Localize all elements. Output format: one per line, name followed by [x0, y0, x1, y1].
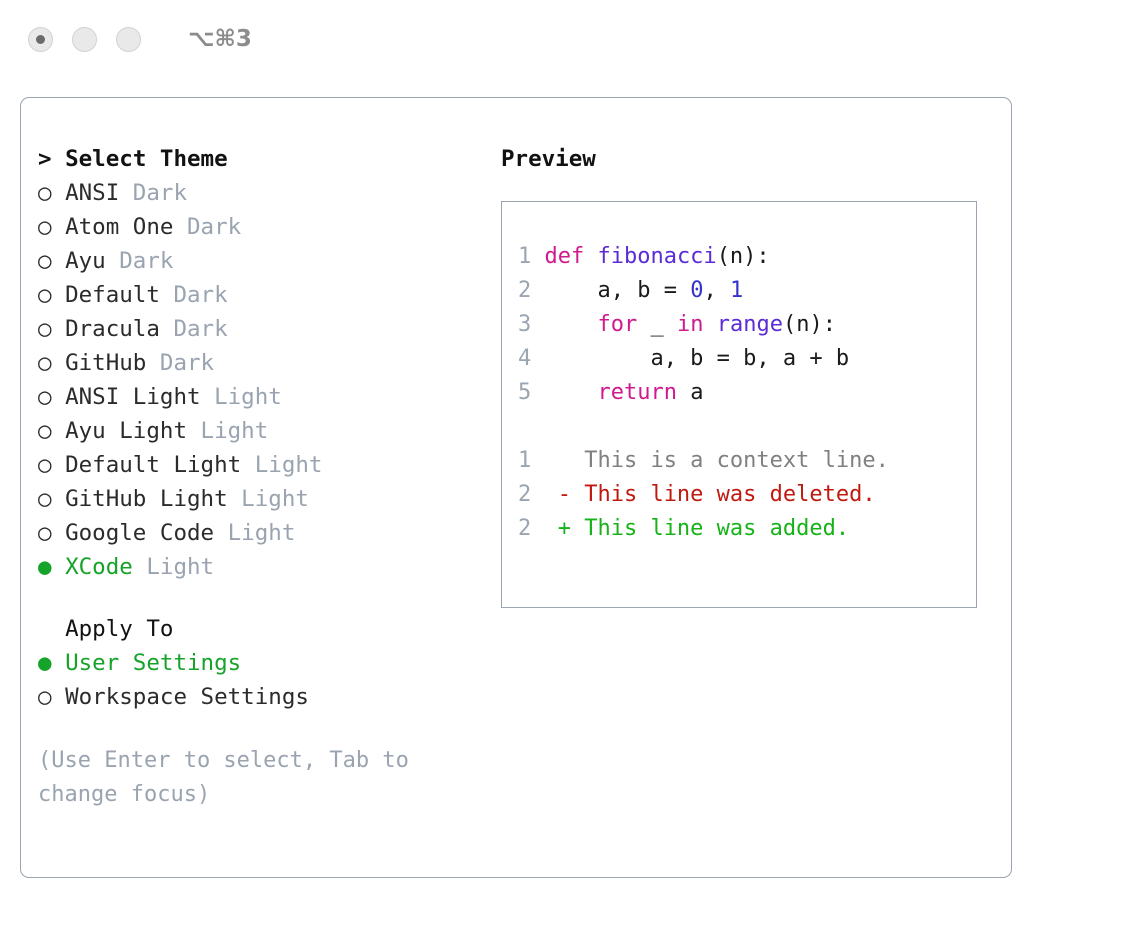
line-number: 2 [518, 274, 531, 308]
code-line: 3 for _ in range(n): [502, 308, 976, 342]
code-token-plain: _ [637, 312, 677, 337]
theme-option-ansi[interactable]: ○ ANSI Dark [38, 176, 478, 210]
line-number: 1 [518, 444, 531, 478]
theme-option-github[interactable]: ○ GitHub Dark [38, 346, 478, 380]
line-number: 2 [518, 512, 531, 546]
radio-unselected-icon: ○ [38, 278, 52, 312]
active-dot-inner [36, 35, 45, 44]
radio-unselected-icon: ○ [38, 244, 52, 278]
code-token-plain: (n): [717, 244, 770, 269]
code-token-plain [703, 312, 716, 337]
code-token-kw: in [677, 312, 704, 337]
preview-box: 1 def fibonacci(n):2 a, b = 0, 13 for _ … [501, 201, 977, 608]
theme-option-xcode[interactable]: ● XCode Light [38, 550, 478, 584]
apply-to-option-workspace-settings[interactable]: ○ Workspace Settings [38, 680, 478, 714]
radio-unselected-icon: ○ [38, 380, 52, 414]
theme-option-github-light[interactable]: ○ GitHub Light Light [38, 482, 478, 516]
code-token-fn: range [717, 312, 783, 337]
theme-option-default-light[interactable]: ○ Default Light Light [38, 448, 478, 482]
theme-option-ansi-light[interactable]: ○ ANSI Light Light [38, 380, 478, 414]
hint-spacer [38, 714, 478, 744]
apply-to-option-list: ● User Settings○ Workspace Settings [38, 646, 478, 714]
keyboard-hint-text: (Use Enter to select, Tab to change focu… [38, 744, 438, 812]
code-line: 4 a, b = b, a + b [502, 342, 976, 376]
theme-option-kind: Light [228, 486, 309, 512]
code-token-ctx: This is a context line. [544, 448, 888, 473]
theme-picker-panel: > Select Theme ○ ANSI Dark○ Atom One Dar… [20, 97, 1012, 878]
theme-option-kind: Light [241, 452, 322, 478]
window-control-dot-3[interactable] [116, 27, 141, 52]
apply-to-option-label: Workspace Settings [52, 684, 309, 710]
theme-option-kind: Dark [160, 316, 228, 342]
window-titlebar: ⌥⌘3 [0, 0, 1140, 78]
code-token-plain: (n): [783, 312, 836, 337]
radio-unselected-icon: ○ [38, 346, 52, 380]
apply-to-heading: Apply To [38, 612, 478, 646]
radio-unselected-icon: ○ [38, 680, 52, 714]
section-spacer [38, 584, 478, 612]
theme-option-kind: Dark [173, 214, 241, 240]
radio-unselected-icon: ○ [38, 312, 52, 346]
code-line: 2 a, b = 0, 1 [502, 274, 976, 308]
code-token-fn: fibonacci [597, 244, 716, 269]
theme-option-atom-one[interactable]: ○ Atom One Dark [38, 210, 478, 244]
diff-line: 1 This is a context line. [502, 444, 976, 478]
theme-option-label: Dracula [52, 316, 160, 342]
theme-option-kind: Light [133, 554, 214, 580]
line-number: 3 [518, 308, 531, 342]
theme-option-label: Ayu Light [52, 418, 187, 444]
theme-option-label: Ayu [52, 248, 106, 274]
select-theme-heading: > Select Theme [38, 142, 478, 176]
theme-option-label: Google Code [52, 520, 215, 546]
apply-to-heading-indent [38, 612, 52, 646]
theme-selection-column: > Select Theme ○ ANSI Dark○ Atom One Dar… [38, 142, 478, 812]
radio-unselected-icon: ○ [38, 448, 52, 482]
diff-line: 2 - This line was deleted. [502, 478, 976, 512]
theme-option-kind: Dark [119, 180, 187, 206]
code-token-plain: a, b = b, a + b [544, 346, 849, 371]
window-control-dot-active[interactable] [28, 27, 53, 52]
radio-unselected-icon: ○ [38, 210, 52, 244]
code-line: 1 def fibonacci(n): [502, 240, 976, 274]
theme-option-kind: Dark [106, 248, 174, 274]
apply-to-option-label: User Settings [52, 650, 242, 676]
theme-option-label: ANSI Light [52, 384, 201, 410]
code-token-kw: def [544, 244, 597, 269]
code-token-plain [544, 312, 597, 337]
apply-to-heading-text: Apply To [65, 616, 173, 642]
radio-unselected-icon: ○ [38, 516, 52, 550]
theme-option-label: GitHub Light [52, 486, 228, 512]
preview-heading: Preview [501, 142, 991, 176]
code-token-kw: for [597, 312, 637, 337]
line-number: 2 [518, 478, 531, 512]
window-controls [28, 27, 141, 52]
theme-option-list: ○ ANSI Dark○ Atom One Dark○ Ayu Dark○ De… [38, 176, 478, 584]
code-token-num: 1 [730, 278, 743, 303]
theme-option-label: Default Light [52, 452, 242, 478]
theme-option-label: Atom One [52, 214, 174, 240]
code-token-plain [544, 380, 597, 405]
code-token-del: - This line was deleted. [544, 482, 875, 507]
code-token-add: + This line was added. [544, 516, 849, 541]
keyboard-shortcut-label: ⌥⌘3 [188, 26, 252, 52]
line-number: 5 [518, 376, 531, 410]
code-diff-separator [502, 410, 976, 444]
radio-unselected-icon: ○ [38, 482, 52, 516]
theme-option-kind: Light [201, 384, 282, 410]
code-sample: 1 def fibonacci(n):2 a, b = 0, 13 for _ … [502, 240, 976, 410]
theme-option-kind: Light [187, 418, 268, 444]
theme-option-google-code[interactable]: ○ Google Code Light [38, 516, 478, 550]
theme-option-kind: Light [214, 520, 295, 546]
radio-unselected-icon: ○ [38, 414, 52, 448]
radio-unselected-icon: ○ [38, 176, 52, 210]
preview-column: Preview 1 def fibonacci(n):2 a, b = 0, 1… [501, 142, 991, 608]
theme-option-label: GitHub [52, 350, 147, 376]
radio-selected-icon: ● [38, 550, 52, 584]
line-number: 4 [518, 342, 531, 376]
diff-line: 2 + This line was added. [502, 512, 976, 546]
theme-option-kind: Dark [160, 282, 228, 308]
code-token-plain: , [703, 278, 730, 303]
theme-option-label: XCode [52, 554, 133, 580]
theme-option-dracula[interactable]: ○ Dracula Dark [38, 312, 478, 346]
code-token-plain: a [677, 380, 704, 405]
theme-option-ayu-light[interactable]: ○ Ayu Light Light [38, 414, 478, 448]
diff-sample: 1 This is a context line.2 - This line w… [502, 444, 976, 546]
theme-option-label: Default [52, 282, 160, 308]
apply-to-option-user-settings[interactable]: ● User Settings [38, 646, 478, 680]
code-token-num: 0 [690, 278, 703, 303]
theme-option-ayu[interactable]: ○ Ayu Dark [38, 244, 478, 278]
theme-option-default[interactable]: ○ Default Dark [38, 278, 478, 312]
code-token-kw: return [597, 380, 676, 405]
code-line: 5 return a [502, 376, 976, 410]
window-control-dot-2[interactable] [72, 27, 97, 52]
theme-option-kind: Dark [146, 350, 214, 376]
radio-selected-icon: ● [38, 646, 52, 680]
code-token-plain: a, b = [544, 278, 690, 303]
line-number: 1 [518, 240, 531, 274]
theme-option-label: ANSI [52, 180, 120, 206]
